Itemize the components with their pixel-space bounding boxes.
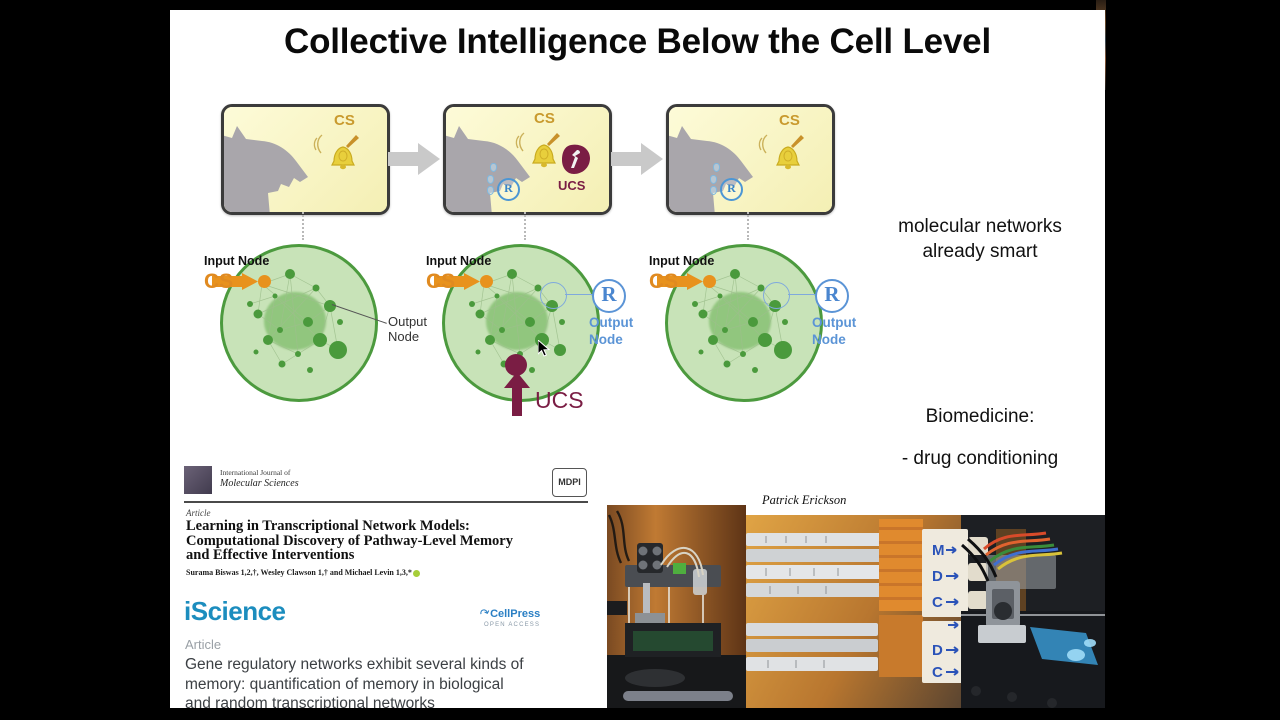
syringe-mark-C2: C bbox=[932, 664, 943, 681]
saliva-drop-icon bbox=[713, 163, 720, 172]
cellpress-open-access: OPEN ACCESS bbox=[480, 622, 540, 628]
ijms-article-kicker: Article bbox=[186, 508, 211, 518]
cs-label-cell-3: CS bbox=[649, 270, 678, 294]
response-badge-panel-2: R bbox=[497, 178, 520, 201]
output-connector-line bbox=[788, 294, 816, 295]
output-node-label-line2: Node bbox=[589, 332, 623, 347]
response-node-2: R bbox=[592, 279, 626, 313]
syringe-mark-M: M bbox=[932, 542, 945, 559]
lab-photo-robot bbox=[607, 505, 746, 708]
input-node-label-1: Input Node bbox=[204, 254, 269, 268]
panel-cell-connector-1 bbox=[302, 212, 304, 240]
ijms-authors: Surama Biswas 1,2,†, Wesley Clawson 1,† … bbox=[186, 568, 420, 577]
paper-card-iscience[interactable]: iScience ↷CellPress OPEN ACCESS Article … bbox=[184, 590, 588, 708]
output-node-label-line1: Output bbox=[388, 314, 427, 329]
cell-network-1: Input Node CS Output Node bbox=[220, 244, 380, 404]
cell-network-2: Input Node CS R Output Node UCS bbox=[442, 244, 602, 404]
panel-cell-connector-2 bbox=[524, 212, 526, 240]
input-node-label-2: Input Node bbox=[426, 254, 491, 268]
mdpi-badge: MDPI bbox=[552, 468, 587, 497]
pavlov-panel-2: CS UCS R bbox=[443, 104, 612, 215]
pavlov-panel-3: CS R bbox=[666, 104, 835, 215]
ijms-authors-text: Surama Biswas 1,2,†, Wesley Clawson 1,† … bbox=[186, 568, 412, 577]
sound-wave-icon bbox=[310, 131, 326, 157]
biomedicine-label: Biomedicine: bbox=[870, 404, 1090, 429]
divider bbox=[184, 501, 588, 503]
sound-wave-icon bbox=[755, 131, 771, 157]
cell-network-3: Input Node CS R Output Node bbox=[665, 244, 825, 404]
output-node-label-line2: Node bbox=[812, 332, 846, 347]
output-node-label-line2: Node bbox=[388, 329, 419, 344]
iscience-title-line3: and random transcriptional networks bbox=[185, 695, 435, 708]
cs-label-panel-1: CS bbox=[334, 112, 355, 129]
ucs-arrow-icon bbox=[504, 372, 530, 416]
response-node-3: R bbox=[815, 279, 849, 313]
note-headline-line1: molecular networks bbox=[898, 216, 1062, 237]
output-connector-line bbox=[565, 294, 593, 295]
cs-label-cell-2: CS bbox=[426, 270, 455, 294]
output-node-ring bbox=[763, 282, 790, 309]
progress-arrow-2-icon bbox=[611, 142, 663, 176]
saliva-drop-icon bbox=[490, 163, 497, 172]
output-node-label-line1: Output bbox=[812, 315, 856, 330]
saliva-drop-icon bbox=[710, 175, 717, 184]
biomedicine-bullet-1: - drug conditioning bbox=[870, 446, 1090, 471]
sound-wave-icon bbox=[512, 129, 528, 155]
iscience-title-line2: memory: quantification of memory in biol… bbox=[185, 676, 504, 693]
presentation-slide: Collective Intelligence Below the Cell L… bbox=[170, 10, 1105, 708]
iscience-logo: iScience bbox=[184, 596, 286, 627]
bell-icon bbox=[528, 131, 562, 171]
paper-card-ijms[interactable]: International Journal of Molecular Scien… bbox=[184, 458, 588, 590]
input-node-label-3: Input Node bbox=[649, 254, 714, 268]
input-node-dot bbox=[480, 275, 493, 288]
ijms-logo-icon bbox=[184, 466, 212, 494]
screen-root: Collective Intelligence Below the Cell L… bbox=[0, 0, 1280, 720]
ucs-label-panel-2: UCS bbox=[558, 178, 585, 193]
cs-label-panel-3: CS bbox=[779, 112, 800, 129]
syringe-mark-D2: D bbox=[932, 642, 943, 659]
cellpress-name: CellPress bbox=[490, 608, 540, 620]
syringe-mark-C: C bbox=[932, 594, 943, 611]
ijms-title: Learning in Transcriptional Network Mode… bbox=[186, 519, 586, 563]
pavlov-panel-1: CS bbox=[221, 104, 390, 215]
bell-icon bbox=[772, 133, 806, 173]
saliva-drop-icon bbox=[710, 186, 717, 195]
cellpress-logo: ↷CellPress OPEN ACCESS bbox=[480, 604, 540, 628]
note-headline-line2: already smart bbox=[922, 241, 1037, 262]
cs-label-panel-2: CS bbox=[534, 110, 555, 127]
syringe-mark-D: D bbox=[932, 568, 943, 585]
iscience-title: Gene regulatory networks exhibit several… bbox=[185, 655, 585, 708]
input-node-dot bbox=[703, 275, 716, 288]
output-node-ring bbox=[540, 282, 567, 309]
cs-label-cell-1: CS bbox=[204, 270, 233, 294]
lab-photo-syringe-array: M D C D C bbox=[746, 515, 1105, 708]
response-badge-panel-3: R bbox=[720, 178, 743, 201]
bell-icon bbox=[327, 133, 361, 173]
ucs-label-cell-2: UCS bbox=[535, 387, 584, 414]
saliva-drop-icon bbox=[487, 186, 494, 195]
iscience-title-line1: Gene regulatory networks exhibit several… bbox=[185, 656, 524, 673]
slide-title: Collective Intelligence Below the Cell L… bbox=[170, 22, 1105, 62]
progress-arrow-1-icon bbox=[388, 142, 440, 176]
panel-cell-connector-3 bbox=[747, 212, 749, 240]
iscience-article-kicker: Article bbox=[185, 637, 221, 652]
orcid-icon bbox=[413, 570, 420, 577]
steak-ucs-icon bbox=[562, 144, 591, 174]
input-node-dot bbox=[258, 275, 271, 288]
ijms-journal-line2: Molecular Sciences bbox=[220, 478, 299, 489]
output-node-label-line1: Output bbox=[589, 315, 633, 330]
photo-credit: Patrick Erickson bbox=[762, 493, 846, 508]
ijms-title-line3: and Effective Interventions bbox=[186, 547, 354, 563]
saliva-drop-icon bbox=[487, 175, 494, 184]
ijms-journal-line1: International Journal of bbox=[220, 468, 290, 477]
